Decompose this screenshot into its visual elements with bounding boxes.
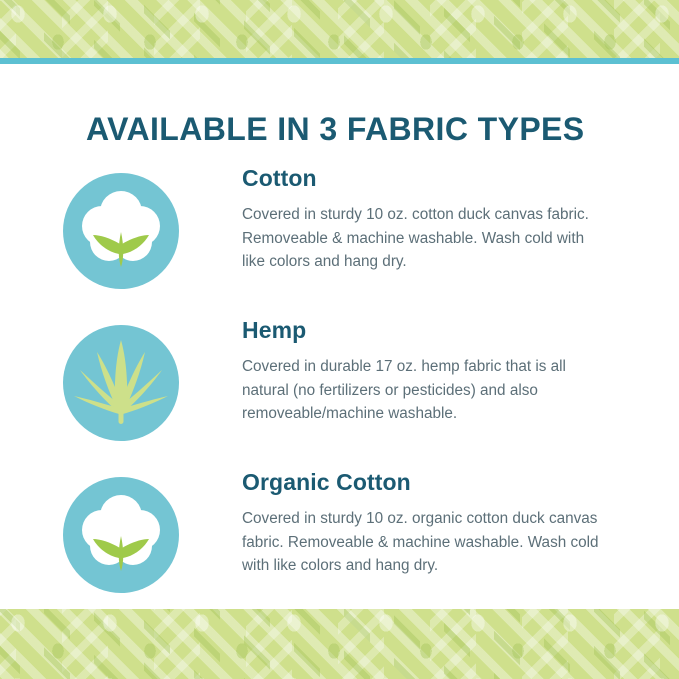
top-pattern-band <box>0 0 679 64</box>
section-body-organic-cotton: Covered in sturdy 10 oz. organic cotton … <box>242 507 608 577</box>
page-title: AVAILABLE IN 3 FABRIC TYPES <box>86 113 606 145</box>
list-item-cotton: Cotton Covered in sturdy 10 oz. cotton d… <box>0 160 679 290</box>
hemp-leaf-icon <box>62 324 180 442</box>
fabric-section-list: Cotton Covered in sturdy 10 oz. cotton d… <box>0 160 679 616</box>
list-item-hemp: Hemp Covered in durable 17 oz. hemp fabr… <box>0 312 679 442</box>
section-title-hemp: Hemp <box>242 318 608 343</box>
top-divider-rule <box>0 58 679 64</box>
fabric-types-infographic: AVAILABLE IN 3 FABRIC TYPES <box>0 0 679 679</box>
organic-cotton-text-block: Organic Cotton Covered in sturdy 10 oz. … <box>242 464 608 577</box>
stripe-dot-accents <box>0 0 679 64</box>
section-title-organic-cotton: Organic Cotton <box>242 470 608 495</box>
list-item-organic-cotton: Organic Cotton Covered in sturdy 10 oz. … <box>0 464 679 594</box>
cotton-boll-icon <box>62 172 180 290</box>
cotton-text-block: Cotton Covered in sturdy 10 oz. cotton d… <box>242 160 608 273</box>
cotton-boll-icon <box>62 476 180 594</box>
section-body-cotton: Covered in sturdy 10 oz. cotton duck can… <box>242 203 608 273</box>
bottom-pattern-band <box>0 609 679 679</box>
hemp-text-block: Hemp Covered in durable 17 oz. hemp fabr… <box>242 312 608 425</box>
section-body-hemp: Covered in durable 17 oz. hemp fabric th… <box>242 355 608 425</box>
section-title-cotton: Cotton <box>242 166 608 191</box>
stripe-dot-accents <box>0 609 679 679</box>
